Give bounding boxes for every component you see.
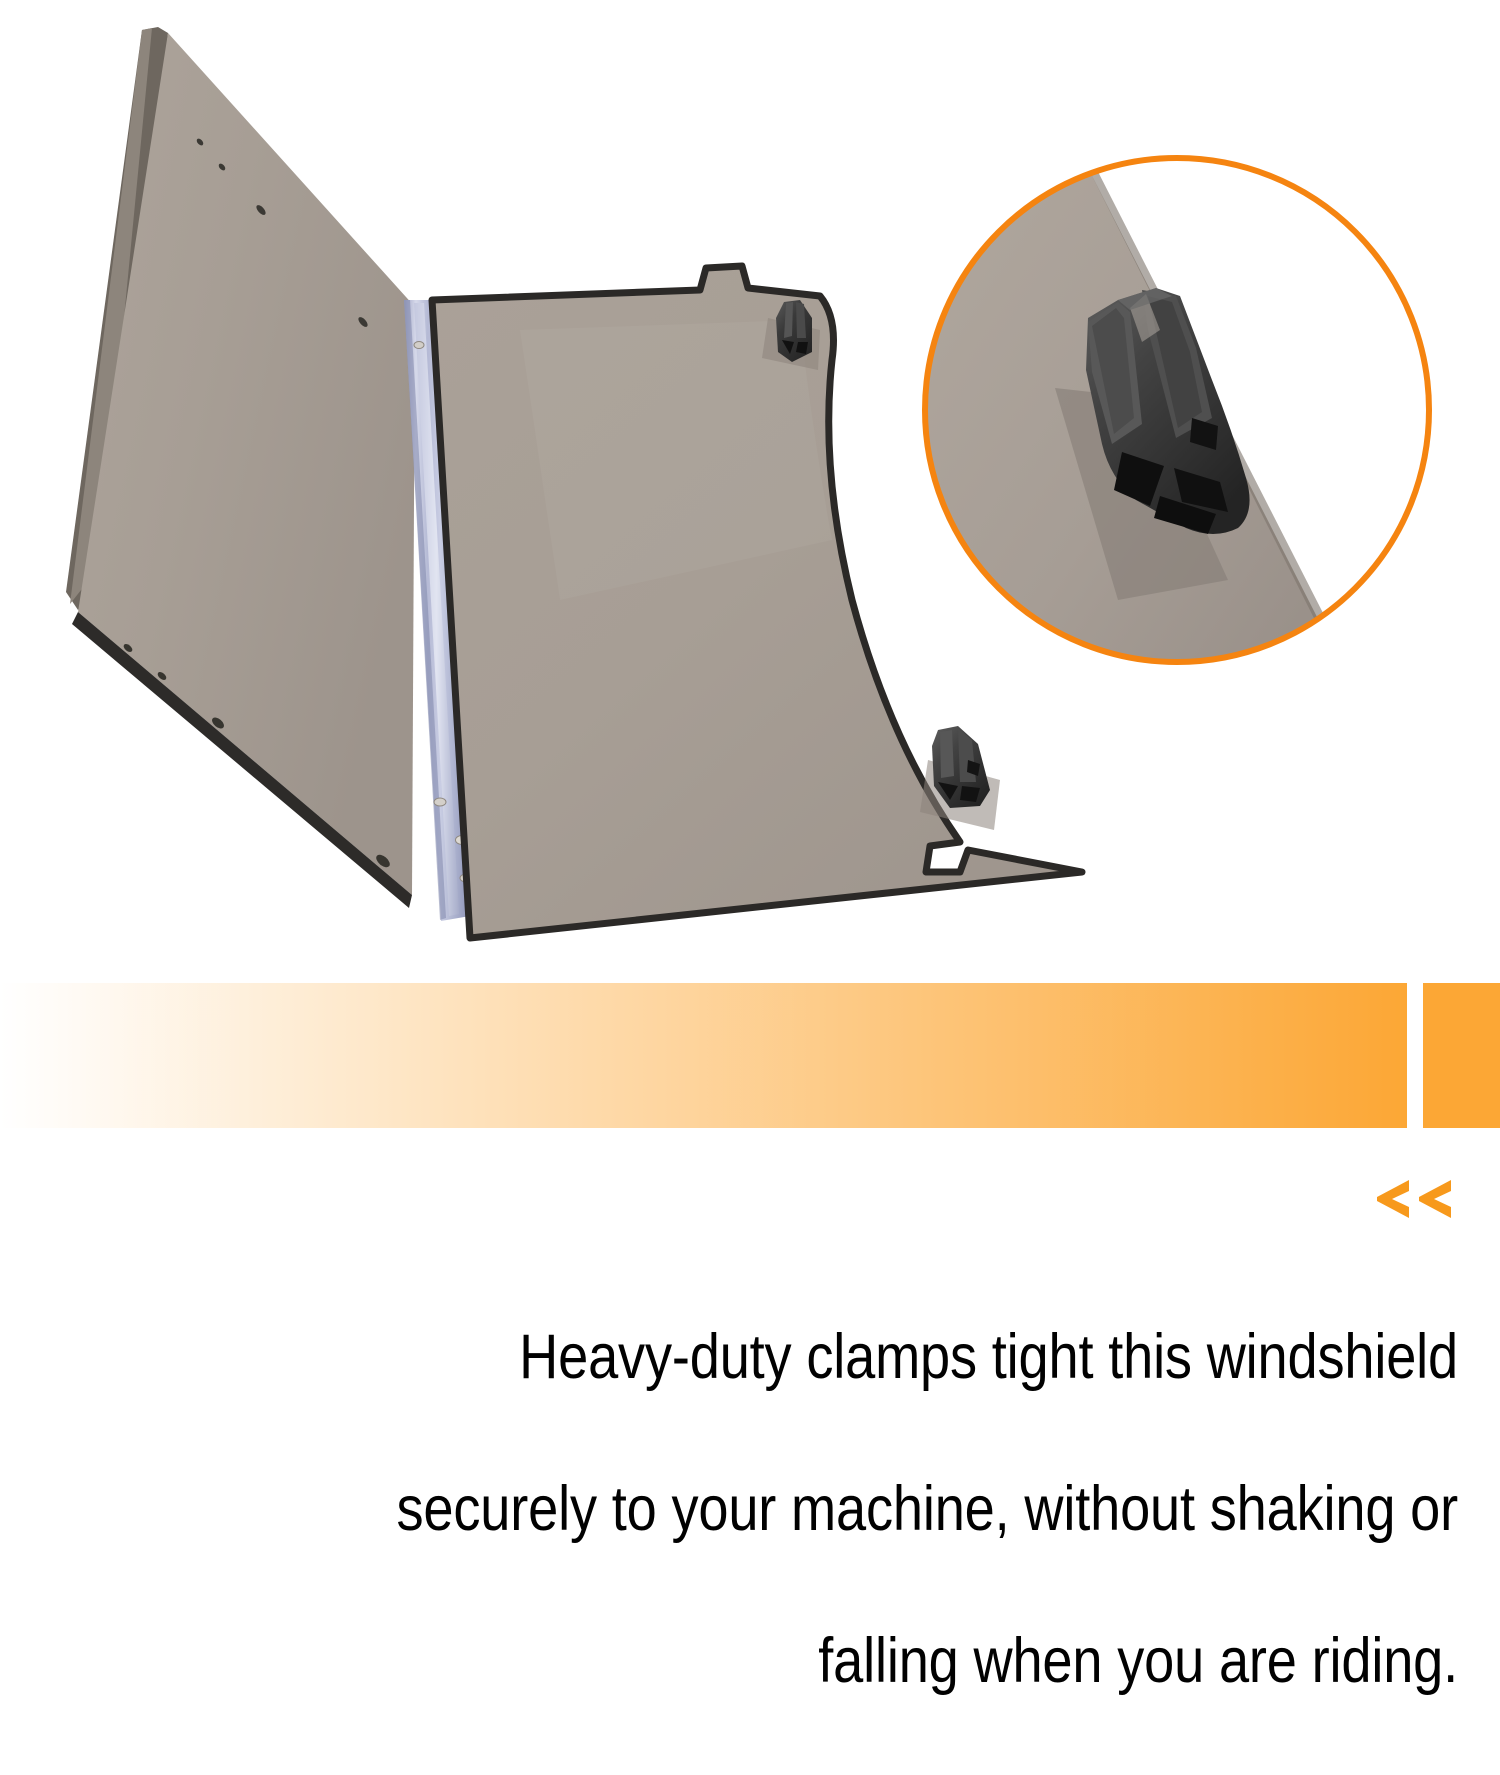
left-panel [66,27,415,908]
caption-line-1: Heavy-duty clamps tight this windshield [239,1319,1458,1395]
accent-bar-gradient-segment [0,983,1407,1128]
clamp-closeup-inset [925,158,1429,662]
accent-bar-solid-tab [1423,983,1500,1128]
product-illustration [0,0,1500,965]
caption-line-3: falling when you are riding. [239,1623,1458,1699]
product-photo [0,0,1500,965]
accent-bar [0,983,1500,1128]
double-chevron-left-icon [1375,1178,1455,1220]
feature-caption: Heavy-duty clamps tight this windshield … [239,1243,1458,1775]
caption-line-2: securely to your machine, without shakin… [239,1471,1458,1547]
clamp-lower-lip-left [940,730,954,778]
clamp-upper-void-b [796,342,808,354]
clamp-lower [920,726,1000,830]
